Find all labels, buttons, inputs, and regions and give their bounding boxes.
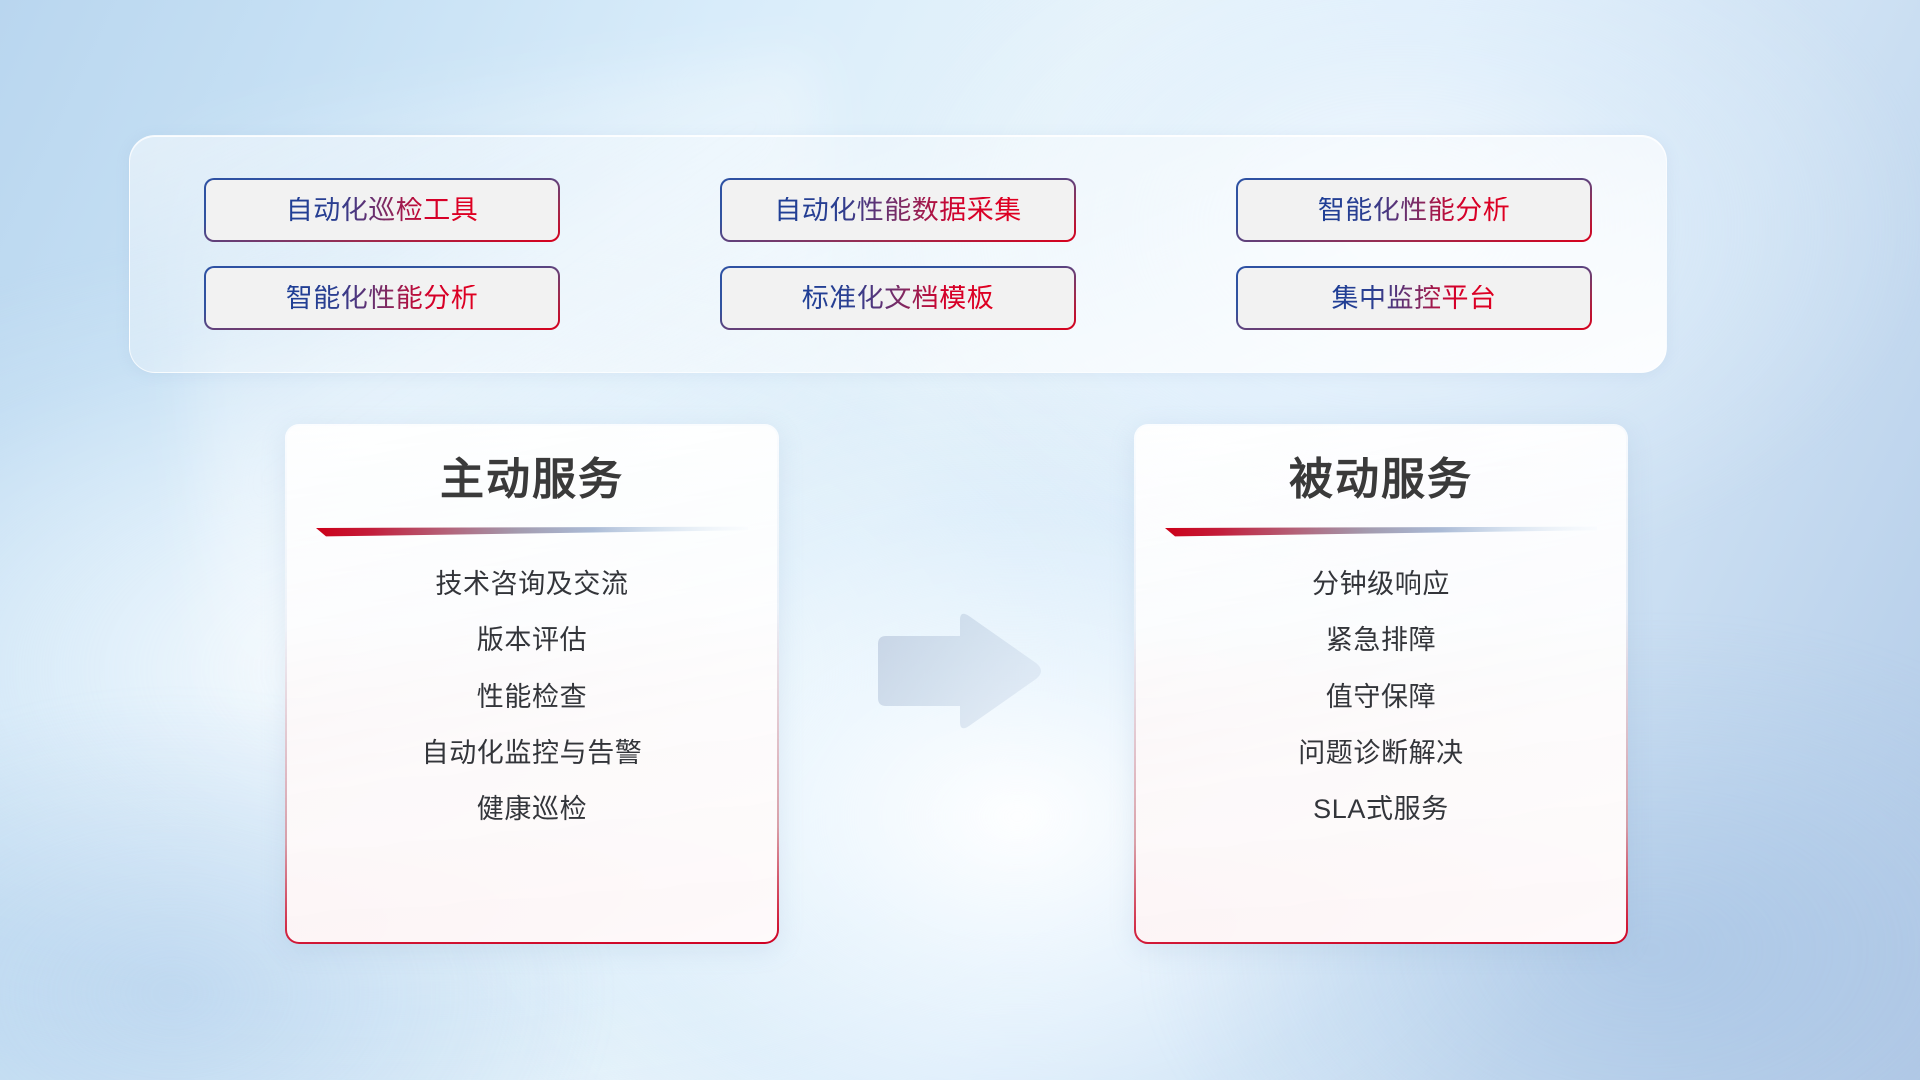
- capability-pill-centralized-monitoring-platform[interactable]: 集中监控平台: [1236, 266, 1592, 330]
- card-item-list: 分钟级响应 紧急排障 值守保障 问题诊断解决 SLA式服务: [1298, 567, 1464, 826]
- list-item[interactable]: 性能检查: [477, 680, 587, 715]
- list-item[interactable]: 问题诊断解决: [1298, 736, 1464, 771]
- arrow-right-icon: [866, 608, 1052, 734]
- capability-pill-label: 自动化巡检工具: [286, 197, 479, 224]
- capability-pill-label: 集中监控平台: [1332, 285, 1497, 312]
- capability-pill-label: 自动化性能数据采集: [774, 197, 1022, 224]
- capability-pill-label: 智能化性能分析: [286, 285, 479, 312]
- card-divider-gradient: [1165, 526, 1597, 537]
- list-item[interactable]: SLA式服务: [1313, 792, 1449, 827]
- list-item[interactable]: 健康巡检: [477, 792, 587, 827]
- capability-panel: 自动化巡检工具 自动化性能数据采集 智能化性能分析 智能化性能分析 标准化文档模…: [129, 135, 1667, 373]
- card-title: 主动服务: [440, 456, 624, 504]
- list-item[interactable]: 版本评估: [477, 623, 587, 658]
- capability-pill-standard-document-template[interactable]: 标准化文档模板: [720, 266, 1076, 330]
- list-item[interactable]: 值守保障: [1326, 680, 1436, 715]
- capability-pill-label: 智能化性能分析: [1318, 197, 1511, 224]
- card-divider-gradient: [316, 526, 748, 537]
- service-card-active: 主动服务 技术咨询及交流 版本评估 性能检查 自动化监控与告警 健康巡检: [285, 424, 779, 944]
- capability-pill-auto-inspection-tool[interactable]: 自动化巡检工具: [204, 178, 560, 242]
- card-item-list: 技术咨询及交流 版本评估 性能检查 自动化监控与告警 健康巡检: [422, 567, 643, 826]
- list-item[interactable]: 紧急排障: [1326, 623, 1436, 658]
- capability-row-2: 智能化性能分析 标准化文档模板 集中监控平台: [204, 266, 1592, 330]
- capability-pill-intelligent-performance-analysis-2[interactable]: 智能化性能分析: [204, 266, 560, 330]
- capability-pill-intelligent-performance-analysis[interactable]: 智能化性能分析: [1236, 178, 1592, 242]
- list-item[interactable]: 技术咨询及交流: [435, 567, 628, 602]
- service-card-passive: 被动服务 分钟级响应 紧急排障 值守保障 问题诊断解决 SLA式服务: [1134, 424, 1628, 944]
- list-item[interactable]: 分钟级响应: [1312, 567, 1450, 602]
- capability-row-1: 自动化巡检工具 自动化性能数据采集 智能化性能分析: [204, 178, 1592, 242]
- card-title: 被动服务: [1289, 456, 1473, 504]
- list-item[interactable]: 自动化监控与告警: [422, 736, 643, 771]
- capability-pill-auto-performance-data-collection[interactable]: 自动化性能数据采集: [720, 178, 1076, 242]
- capability-pill-label: 标准化文档模板: [802, 285, 995, 312]
